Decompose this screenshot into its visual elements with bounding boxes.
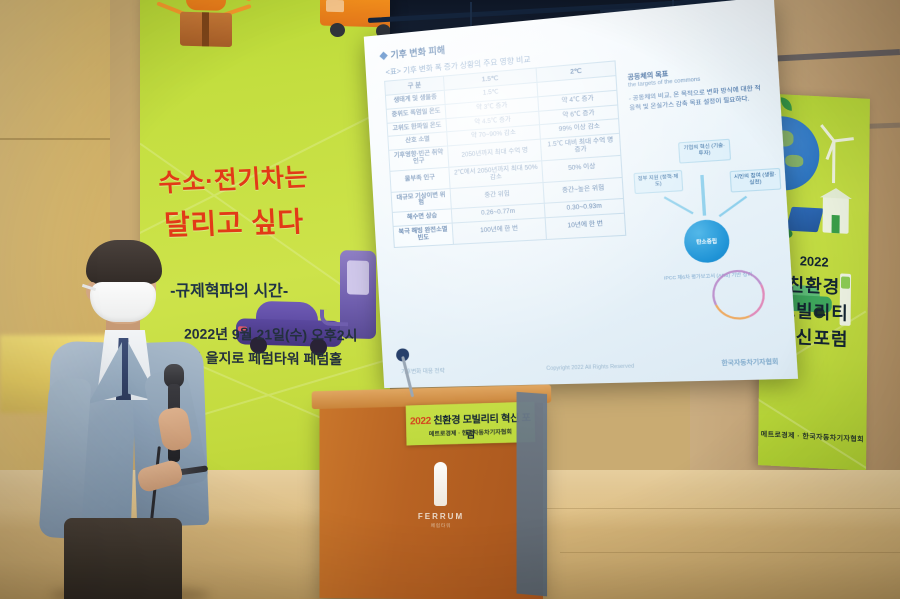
slide-title: 기후 변화 피해 [380, 43, 445, 62]
solar-panel-icon [786, 207, 824, 232]
podium-microphone-icon [396, 348, 456, 409]
speaker-hair [86, 240, 162, 284]
slide-table: 구 분 1.5℃ 2℃ 생태계 및 생물종1.5℃ 중위도 폭염일 온도약 3℃… [384, 60, 626, 247]
scene-root: 수소·전기차는 달리고 싶다 -규제혁파의 시간- 2022년 9월 21일(수… [0, 0, 900, 599]
ferrum-flame-icon [434, 462, 447, 506]
slide-footer-center: Copyright 2022 All Rights Reserved [546, 363, 634, 372]
podium-side-panel [517, 392, 548, 597]
podium: 2022 친환경 모빌리티 혁신 포럼 메트로경제 · 한국자동차기자협회 FE… [320, 399, 543, 599]
floor-seam-2 [560, 552, 900, 553]
diagram-arrow [719, 196, 748, 217]
house-icon [823, 196, 849, 233]
slide-footer-right: 한국자동차기자협회 [721, 356, 779, 367]
drone-illustration [162, 0, 254, 58]
screen-wire-left [470, 2, 472, 28]
banner-headline-line-1: 수소·전기차는 [157, 155, 374, 200]
podium-brand-logo: FERRUM 페럼타워 [414, 512, 468, 529]
diagram-hub: 탄소중립 [683, 219, 731, 264]
bullet-diamond-icon [379, 51, 387, 59]
banner-headline-line-2: 달리고 싶다 [163, 199, 374, 244]
diagram-node: 시민의 참여 (생활·실천) [730, 168, 782, 193]
slide-right-body: - 공동체의 비교, 온 목적으로 변화 방식에 대한 적응력 및 온실가스 감… [629, 84, 767, 113]
diagram-arrow [664, 196, 694, 214]
slide-right-heading: 공동체의 목표 the targets of the commons [627, 60, 762, 88]
speaker-trousers [64, 518, 182, 599]
slide-diagram: 정부 지원 (정책·제도) 기업의 혁신 (기술·투자) 시민의 참여 (생활·… [632, 136, 780, 272]
slide-title-text: 기후 변화 피해 [390, 43, 445, 61]
projection-screen: 기후 변화 피해 <표> 기후 변화 폭 증가 상황의 주요 영향 비교 구 분… [364, 0, 798, 388]
table-cell: 10년에 한 번 [546, 213, 626, 239]
podium-brand-sub: 페럼타워 [414, 523, 468, 529]
wall-seam [0, 138, 110, 140]
banner-headline: 수소·전기차는 달리고 싶다 [158, 156, 373, 244]
floor-seam [540, 508, 900, 509]
diagram-node: 기업의 혁신 (기술·투자) [678, 139, 731, 164]
wind-turbine-icon [817, 126, 852, 184]
diagram-arrow [700, 175, 706, 216]
face-mask-icon [90, 282, 156, 322]
podium-brand-name: FERRUM [414, 512, 468, 521]
table-cell: 북극 해빙 완전소멸 빈도 [393, 223, 454, 247]
podium-sign-year: 2022 [410, 416, 431, 428]
speaker [42, 246, 232, 599]
diagram-node: 정부 지원 (정책·제도) [633, 170, 683, 195]
table-cell: 100년에 한 번 [452, 218, 546, 244]
